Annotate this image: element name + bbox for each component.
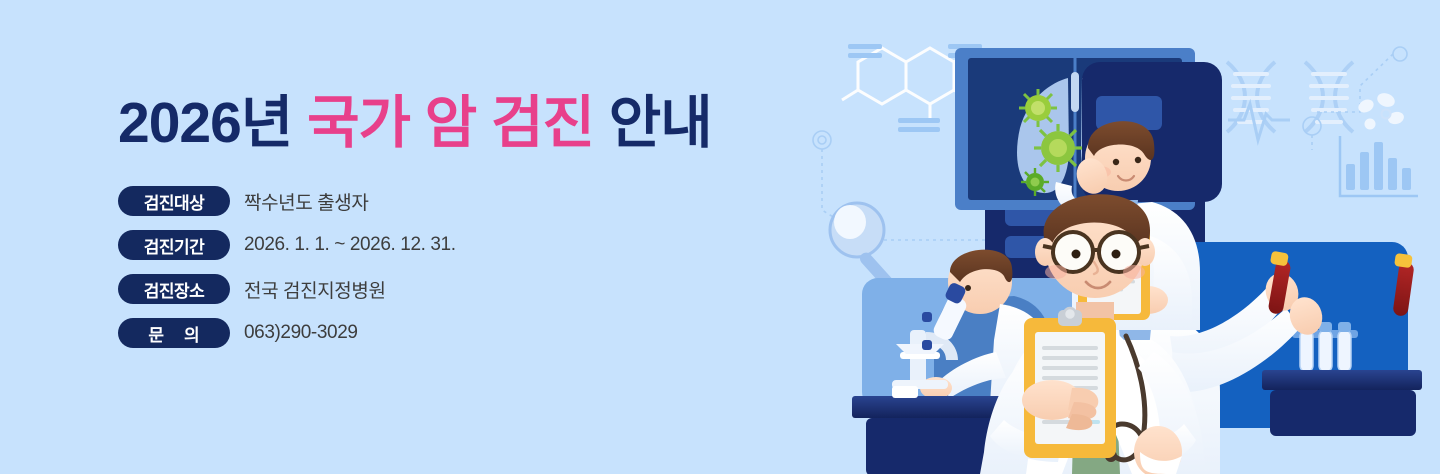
text-panel: 2026년 국가 암 검진 안내 검진대상 짝수년도 출생자 검진기간 2026…: [118, 90, 818, 362]
info-list: 검진대상 짝수년도 출생자 검진기간 2026. 1. 1. ~ 2026. 1…: [118, 186, 818, 348]
info-value-target: 짝수년도 출생자: [244, 188, 368, 215]
medical-illustration: [800, 0, 1440, 474]
info-row-target: 검진대상 짝수년도 출생자: [118, 186, 818, 216]
title-part-highlight: 국가 암 검진: [307, 91, 594, 155]
badge-label-location: 검진장소: [118, 274, 230, 304]
title-part-suffix: 안내: [594, 91, 712, 155]
info-value-location: 전국 검진지정병원: [244, 276, 386, 303]
pills-icon: [1356, 91, 1405, 130]
info-row-period: 검진기간 2026. 1. 1. ~ 2026. 12. 31.: [118, 230, 818, 260]
info-row-location: 검진장소 전국 검진지정병원: [118, 274, 818, 304]
info-value-contact: 063)290-3029: [244, 322, 358, 344]
page-title: 2026년 국가 암 검진 안내: [118, 90, 818, 157]
title-part-year: 2026년: [118, 91, 307, 155]
badge-label-target: 검진대상: [118, 186, 230, 216]
bar-chart-icon: [1340, 136, 1418, 196]
badge-label-period: 검진기간: [118, 230, 230, 260]
info-row-contact: 문의 063)290-3029: [118, 318, 818, 348]
molecule-hexagon-icon: [842, 48, 970, 122]
promo-banner: 2026년 국가 암 검진 안내 검진대상 짝수년도 출생자 검진기간 2026…: [0, 0, 1440, 474]
info-value-period: 2026. 1. 1. ~ 2026. 12. 31.: [244, 234, 456, 256]
badge-label-contact: 문의: [118, 318, 230, 348]
